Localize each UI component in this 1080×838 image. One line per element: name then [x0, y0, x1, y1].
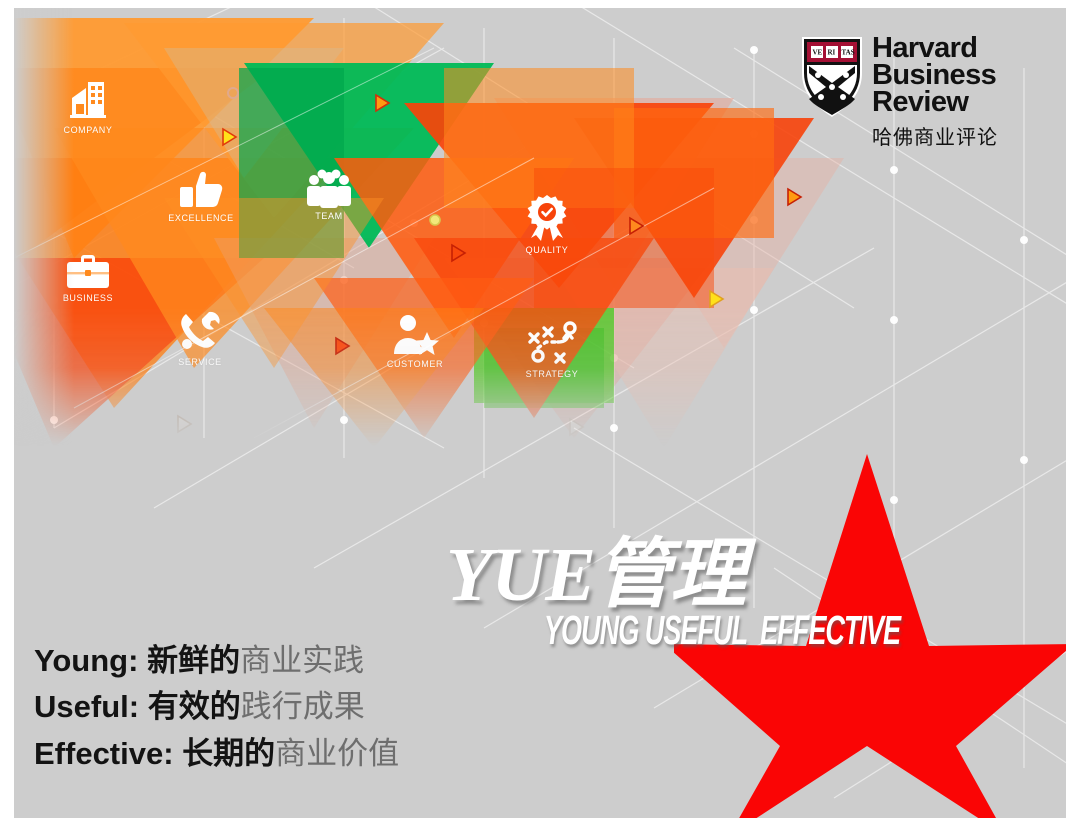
- play-marker-orange-2: [784, 186, 804, 208]
- headline-subtitle: YOUNG USEFUL EFFECTIVE: [544, 607, 900, 654]
- play-marker-red-3: [332, 335, 352, 357]
- tagline-gray-effective: 商业价值: [275, 736, 399, 772]
- icon-label-quality: QUALITY: [526, 245, 569, 255]
- award-ribbon-icon: [524, 194, 570, 242]
- harvard-shield-icon: VERITAS: [800, 35, 864, 119]
- icon-block-strategy: STRATEGY: [514, 320, 590, 379]
- hbr-wordmark: Harvard Business Review 哈佛商业评论: [872, 35, 998, 150]
- slide-canvas: COMPANY EXCELLENCE TEAM: [14, 8, 1066, 818]
- icon-block-team: TEAM: [298, 166, 360, 221]
- icon-label-team: TEAM: [315, 211, 342, 221]
- people-group-icon: [305, 166, 353, 208]
- play-marker-muted-1: [174, 413, 194, 435]
- play-marker-red-1: [448, 242, 468, 264]
- office-building-icon: [68, 80, 108, 122]
- svg-text:RI: RI: [828, 49, 836, 57]
- tagline-en-young: Young:: [34, 643, 138, 678]
- headline-main: YUE管理: [446, 536, 1066, 613]
- tagline-bold-effective: 长期的: [182, 736, 275, 772]
- play-marker-yellow-2: [706, 288, 726, 310]
- headline-block: YUE管理 YOUNG USEFUL EFFECTIVE: [446, 536, 1066, 654]
- subtitle-young-useful: YOUNG USEFUL: [544, 607, 747, 653]
- play-marker-yellow-1: [219, 126, 239, 148]
- tagline-en-useful: Useful:: [34, 689, 139, 724]
- icon-block-excellence: EXCELLENCE: [166, 170, 236, 223]
- headline-latin: YUE: [446, 533, 595, 617]
- play-marker-orange-1: [372, 92, 392, 114]
- play-marker-muted-2: [566, 416, 586, 438]
- harvard-business-review-logo: VERITAS Harvard Business Review 哈佛商业评论: [800, 35, 998, 150]
- svg-text:TAS: TAS: [842, 49, 855, 57]
- tagline-bold-young: 新鲜的: [147, 643, 240, 679]
- tagline-gray-young: 商业实践: [240, 643, 364, 679]
- triangle-cluster: [14, 8, 854, 448]
- phone-wrench-icon: [177, 310, 223, 354]
- icon-label-customer: CUSTOMER: [387, 359, 443, 369]
- hbr-line-business: Business: [872, 62, 998, 89]
- hbr-line-review: Review: [872, 89, 998, 116]
- tagline-gray-useful: 践行成果: [241, 689, 365, 725]
- icon-block-quality: QUALITY: [514, 194, 580, 255]
- headline-cjk: 管理: [595, 529, 745, 618]
- tagline-row-useful: Useful: 有效的践行成果: [34, 684, 399, 730]
- icon-label-strategy: STRATEGY: [526, 369, 579, 379]
- icon-block-service: SERVICE: [166, 310, 234, 367]
- tagline-row-effective: Effective: 长期的商业价值: [34, 731, 399, 777]
- hbr-chinese-name: 哈佛商业评论: [872, 121, 998, 150]
- tagline-row-young: Young: 新鲜的商业实践: [34, 638, 399, 684]
- person-star-icon: [391, 314, 439, 356]
- icon-label-excellence: EXCELLENCE: [168, 213, 234, 223]
- dot-marker-tan: [226, 86, 240, 100]
- hero-left-fade: [14, 8, 74, 448]
- tagline-bold-useful: 有效的: [148, 689, 241, 725]
- tagline-list: Young: 新鲜的商业实践 Useful: 有效的践行成果 Effective…: [34, 638, 399, 777]
- subtitle-effective: EFFECTIVE: [760, 607, 900, 653]
- svg-text:VE: VE: [813, 49, 823, 57]
- hbr-line-harvard: Harvard: [872, 35, 998, 62]
- icon-block-customer: CUSTOMER: [380, 314, 450, 369]
- dot-marker-yellow: [428, 213, 442, 227]
- playbook-tactics-icon: [524, 320, 580, 366]
- play-marker-red-2: [626, 215, 646, 237]
- tagline-en-effective: Effective:: [34, 736, 174, 771]
- icon-label-service: SERVICE: [178, 357, 222, 367]
- hero-triangle-graphic: COMPANY EXCELLENCE TEAM: [14, 8, 854, 448]
- thumbs-up-icon: [178, 170, 224, 210]
